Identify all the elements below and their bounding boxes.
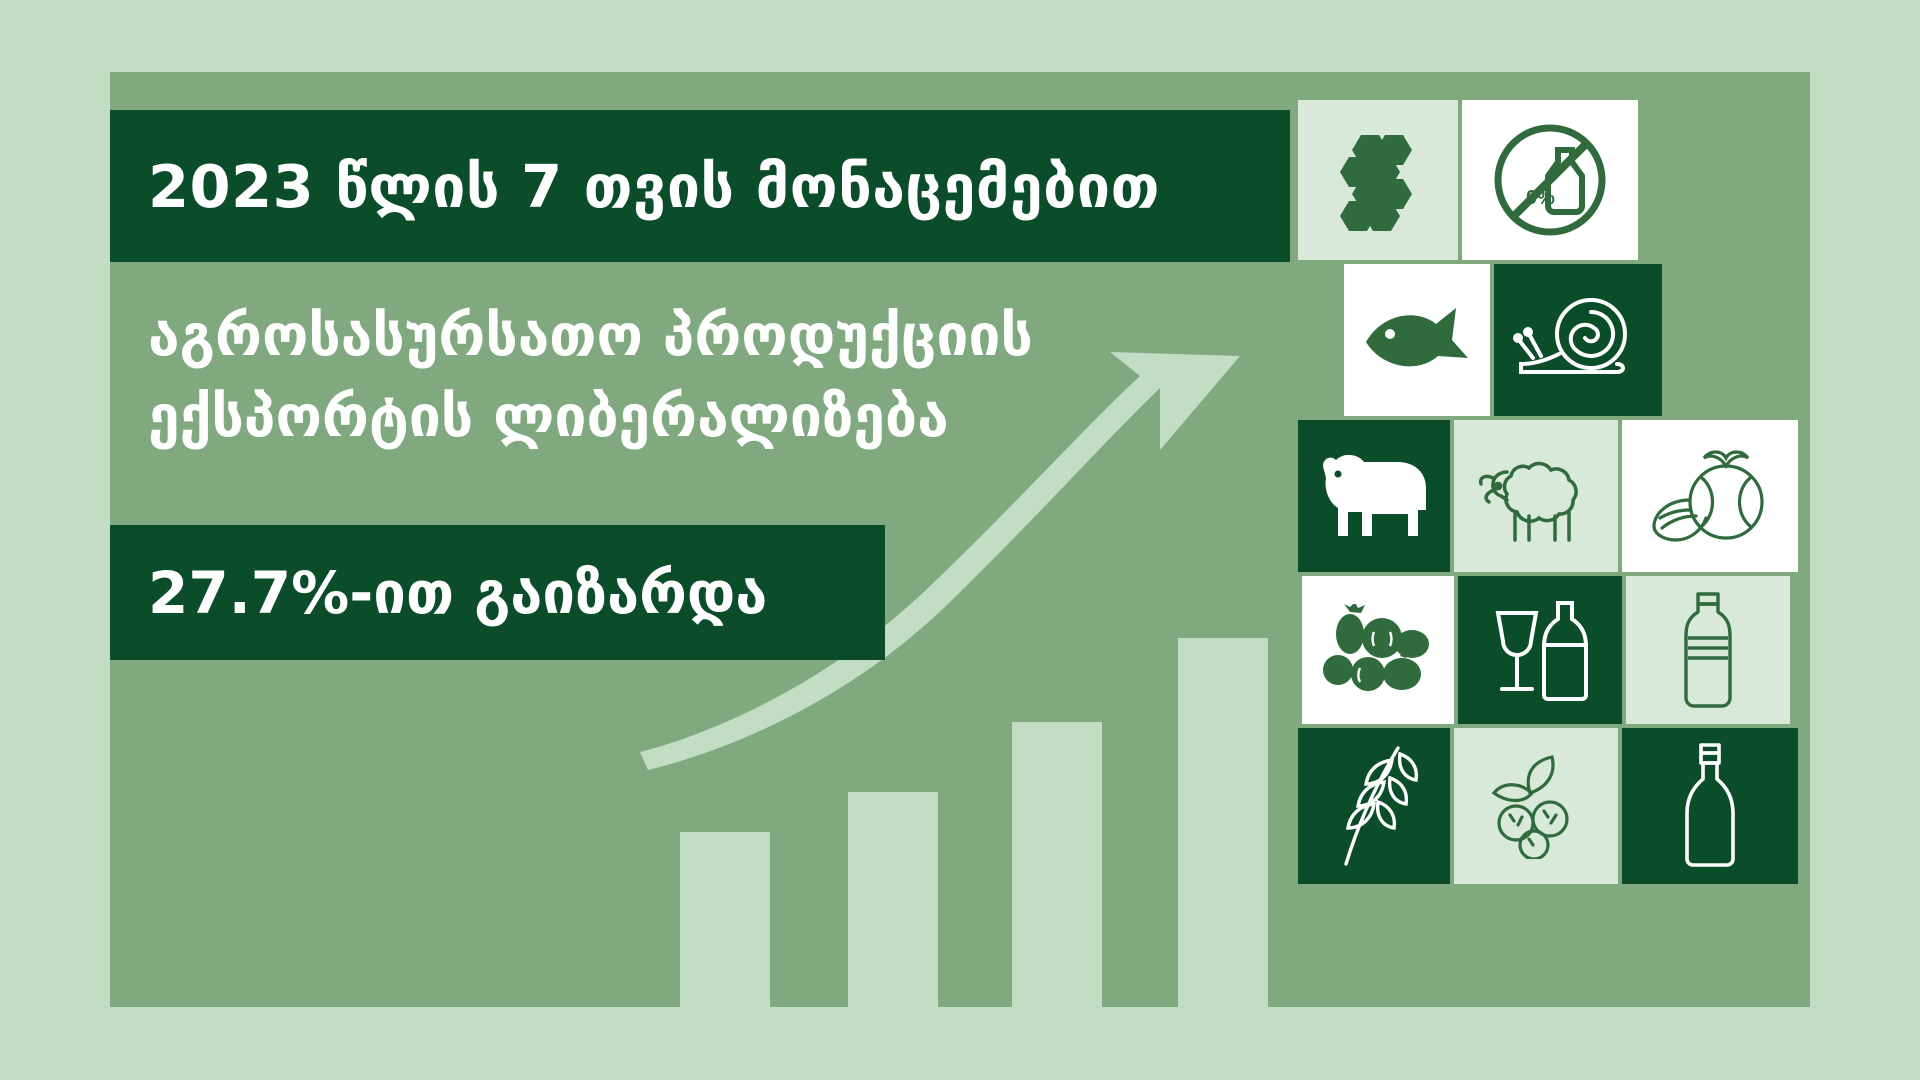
tile-herb-branch [1298,728,1450,884]
honeycomb-icon [1323,125,1433,235]
herb-branch-icon [1320,742,1428,870]
tile-honeycomb [1298,100,1458,260]
tile-berries [1454,728,1618,884]
oil-bottle-icon [1673,741,1747,871]
tile-water-bottle [1626,576,1790,724]
wine-glass-bottle-icon [1480,595,1600,705]
stat-banner: 27.7%-ით გაიზარდა [110,525,885,660]
snail-icon [1513,292,1643,388]
stat-value-text: 27.7%-ით გაიზარდა [110,564,767,622]
tile-snail [1494,264,1662,416]
tile-sheep [1454,420,1618,572]
fruits-veggies-icon [1316,604,1440,696]
tile-fish [1344,264,1490,416]
tomato-melon-icon [1642,444,1778,548]
subtitle-block: აგროსასურსათო პროდუქციის ექსპორტის ლიბერ… [148,296,1268,458]
tile-oil-bottle [1622,728,1798,884]
no-alcohol-icon: 0% [1488,118,1612,242]
water-bottle-icon [1668,590,1748,710]
page-title: 2023 წლის 7 თვის მონაცემებით [110,157,1160,216]
svg-text:0%: 0% [1526,187,1555,209]
title-banner: 2023 წლის 7 თვის მონაცემებით [110,110,1290,262]
tile-wine [1458,576,1622,724]
cow-icon [1314,448,1434,544]
fish-icon [1358,300,1476,380]
chart-bar-1 [680,832,770,1007]
tile-no-alcohol: 0% [1462,100,1638,260]
chart-bar-2 [848,792,938,1007]
infographic-canvas: 2023 წლის 7 თვის მონაცემებით აგროსასურსა… [0,0,1920,1080]
subtitle-line-2: ექსპორტის ლიბერალიზება [148,377,1268,458]
sheep-icon [1471,446,1601,546]
icon-mosaic: 0% [1298,100,1838,1000]
berries-icon [1472,753,1600,859]
tile-cow [1298,420,1450,572]
tile-tomato-melon [1622,420,1798,572]
tile-fruits-veggies [1302,576,1454,724]
subtitle-line-1: აგროსასურსათო პროდუქციის [148,296,1268,377]
